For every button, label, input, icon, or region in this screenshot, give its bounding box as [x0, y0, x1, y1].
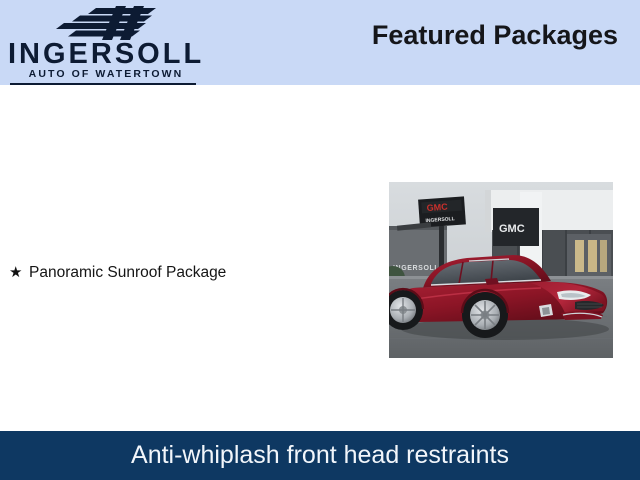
logo-tagline: AUTO OF WATERTOWN — [8, 69, 204, 80]
page-title: Featured Packages — [372, 20, 618, 51]
svg-text:GMC: GMC — [499, 223, 525, 235]
footer-feature-text: Anti-whiplash front head restraints — [131, 441, 509, 470]
main-content: ★ Panoramic Sunroof Package — [0, 85, 640, 431]
vehicle-photo: GMC INGERSOLL GMC INGERSOLL — [389, 182, 613, 358]
package-label: Panoramic Sunroof Package — [29, 265, 226, 281]
ingersoll-wing-emblem-icon — [56, 6, 166, 40]
header-band: INGERSOLL AUTO OF WATERTOWN Featured Pac… — [0, 0, 640, 85]
star-bullet-icon: ★ — [9, 265, 29, 280]
list-item: ★ Panoramic Sunroof Package — [9, 265, 226, 281]
footer-banner: Anti-whiplash front head restraints — [0, 431, 640, 480]
dealer-logo[interactable]: INGERSOLL AUTO OF WATERTOWN — [8, 4, 204, 82]
svg-text:GMC: GMC — [426, 202, 448, 213]
logo-wordmark: INGERSOLL — [8, 40, 204, 69]
